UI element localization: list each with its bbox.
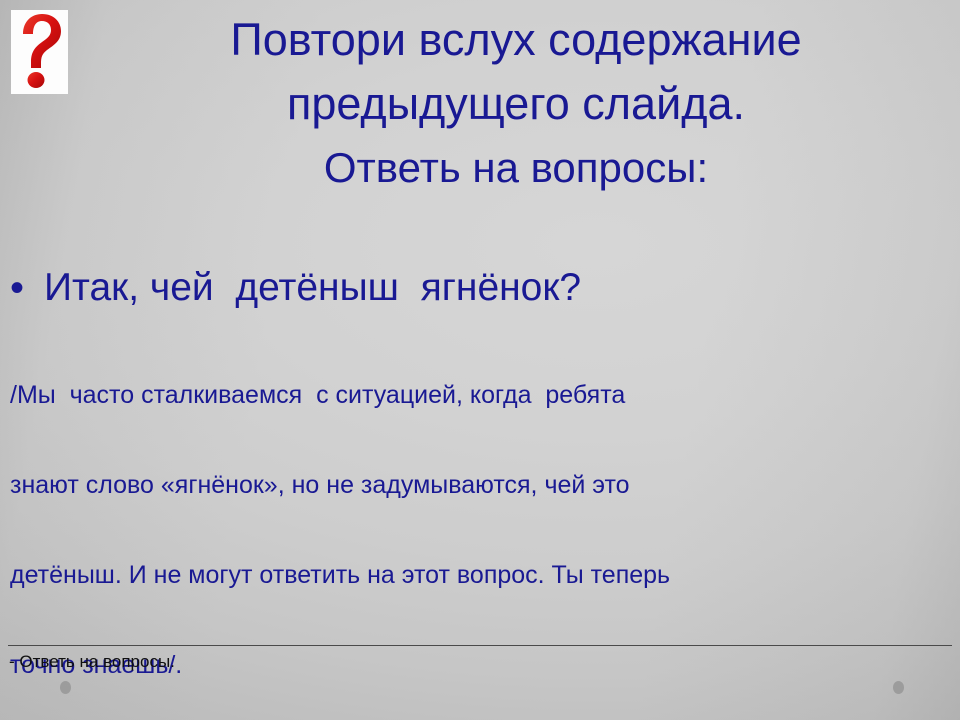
footer-divider bbox=[8, 645, 952, 646]
paragraph-line-3: детёныш. И не могут ответить на этот воп… bbox=[10, 560, 930, 590]
title-line-1: Повтори вслух содержание bbox=[86, 8, 946, 72]
slide-title: Повтори вслух содержание предыдущего сла… bbox=[86, 8, 946, 200]
question-mark-icon bbox=[11, 10, 68, 94]
bullet-marker-icon: • bbox=[10, 262, 44, 314]
paragraph-line-1: /Мы часто сталкиваемся с ситуацией, когд… bbox=[10, 380, 930, 410]
paragraph-line-2: знают слово «ягнёнок», но не задумываютс… bbox=[10, 470, 930, 500]
footer-note: - Ответь на вопросы. bbox=[9, 650, 175, 674]
bullet-item-1: • Итак, чей детёныш ягнёнок? bbox=[0, 262, 960, 314]
slide-canvas: Повтори вслух содержание предыдущего сла… bbox=[0, 0, 960, 720]
title-line-2: предыдущего слайда. bbox=[86, 72, 946, 136]
title-line-3: Ответь на вопросы: bbox=[86, 136, 946, 200]
bullet-text-1: Итак, чей детёныш ягнёнок? bbox=[44, 262, 946, 314]
